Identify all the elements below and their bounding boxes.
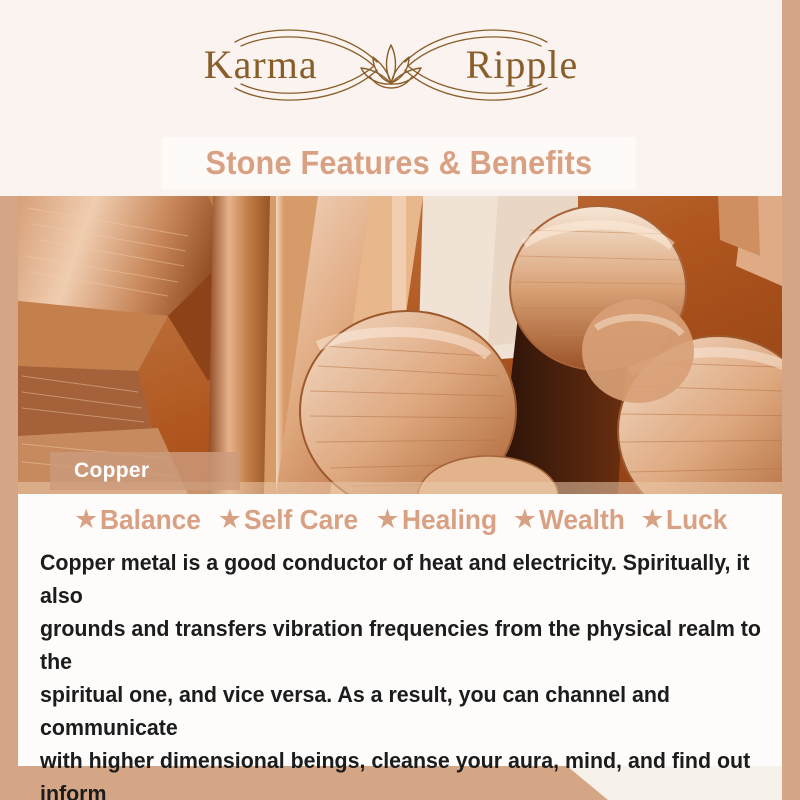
benefit-wealth: Wealth <box>539 504 625 536</box>
brand-name-right: Ripple <box>466 45 579 85</box>
star-icon: ★ <box>640 506 664 533</box>
benefits-row: ★ Balance ★ Self Care ★ Healing ★ Wealth… <box>18 504 782 536</box>
infographic-page: Karma Ripple Stone Features & Benefits <box>0 0 800 800</box>
copper-bars-photo <box>18 196 782 494</box>
brand-header: Karma Ripple <box>0 0 782 130</box>
copper-bars-illustration <box>18 196 782 494</box>
benefit-self-care: Self Care <box>244 504 358 536</box>
star-icon: ★ <box>375 506 399 533</box>
description-text: Copper metal is a good conductor of heat… <box>40 546 781 800</box>
star-icon: ★ <box>513 506 537 533</box>
description-line: spiritual one, and vice versa. As a resu… <box>40 678 781 744</box>
benefit-healing: Healing <box>402 504 497 536</box>
description-line: with higher dimensional beings, cleanse … <box>40 744 781 800</box>
star-icon: ★ <box>218 506 242 533</box>
benefit-luck: Luck <box>666 504 727 536</box>
page-title-box: Stone Features & Benefits <box>162 137 636 189</box>
content-card: ★ Balance ★ Self Care ★ Healing ★ Wealth… <box>18 494 782 766</box>
photo-caption-banner: Copper <box>50 452 240 490</box>
description-line: Copper metal is a good conductor of heat… <box>40 546 781 612</box>
brand-name-left: Karma <box>204 45 318 85</box>
frame-right-bar <box>782 0 800 800</box>
page-title: Stone Features & Benefits <box>206 144 593 182</box>
star-icon: ★ <box>74 506 98 533</box>
description-line: grounds and transfers vibration frequenc… <box>40 612 781 678</box>
benefit-balance: Balance <box>100 504 201 536</box>
brand-logo: Karma Ripple <box>191 20 591 110</box>
frame-left-bar <box>0 196 18 800</box>
photo-caption-label: Copper <box>74 459 149 483</box>
lotus-icon <box>356 37 426 93</box>
